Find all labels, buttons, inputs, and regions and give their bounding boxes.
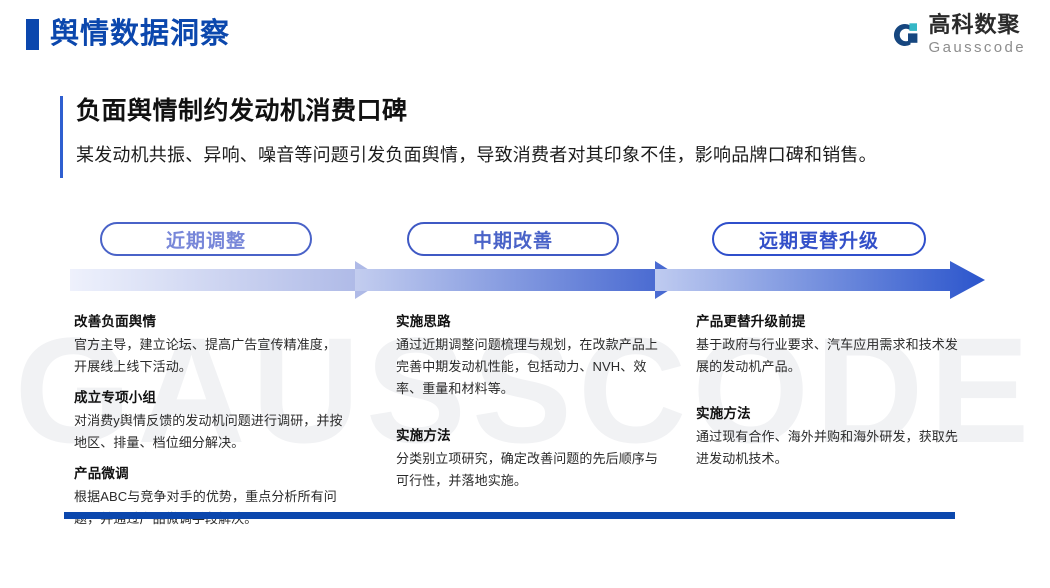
- section-body: 官方主导，建立论坛、提高广告宣传精准度，开展线上线下活动。: [74, 334, 349, 378]
- section-heading: 实施方法: [696, 404, 958, 423]
- logo-english-name: Gausscode: [929, 40, 1026, 55]
- section: 产品更替升级前提 基于政府与行业要求、汽车应用需求和技术发展的发动机产品。: [696, 312, 958, 378]
- stage-pill-mid-term[interactable]: 中期改善: [407, 222, 619, 256]
- stage-pill-row: 近期调整 中期改善 远期更替升级: [0, 222, 1050, 258]
- section: 改善负面舆情 官方主导，建立论坛、提高广告宣传精准度，开展线上线下活动。: [74, 312, 349, 378]
- timeline-arrow: [0, 260, 1050, 300]
- section-heading: 产品更替升级前提: [696, 312, 958, 331]
- section-body: 基于政府与行业要求、汽车应用需求和技术发展的发动机产品。: [696, 334, 958, 378]
- title-block: 负面舆情制约发动机消费口碑 某发动机共振、异响、噪音等问题引发负面舆情，导致消费…: [60, 94, 990, 168]
- stage-pill-near-term[interactable]: 近期调整: [100, 222, 312, 256]
- section-body: 对消费y舆情反馈的发动机问题进行调研，并按地区、排量、档位细分解决。: [74, 410, 349, 454]
- section-heading: 改善负面舆情: [74, 312, 349, 331]
- section-heading: 成立专项小组: [74, 388, 349, 407]
- section-heading: 实施方法: [396, 426, 658, 445]
- section: 成立专项小组 对消费y舆情反馈的发动机问题进行调研，并按地区、排量、档位细分解决…: [74, 388, 349, 454]
- section-heading: 产品微调: [74, 464, 349, 483]
- main-title: 负面舆情制约发动机消费口碑: [76, 94, 990, 128]
- footer-rule: [64, 512, 955, 519]
- square-bullet-icon: [26, 19, 39, 50]
- column-near-term: 改善负面舆情 官方主导，建立论坛、提高广告宣传精准度，开展线上线下活动。 成立专…: [74, 312, 349, 530]
- section: 实施方法 通过现有合作、海外并购和海外研发，获取先进发动机技术。: [696, 404, 958, 470]
- column-mid-term: 实施思路 通过近期调整问题梳理与规划，在改款产品上完善中期发动机性能，包括动力、…: [396, 312, 658, 492]
- column-long-term: 产品更替升级前提 基于政府与行业要求、汽车应用需求和技术发展的发动机产品。 实施…: [696, 312, 958, 470]
- section: 实施思路 通过近期调整问题梳理与规划，在改款产品上完善中期发动机性能，包括动力、…: [396, 312, 658, 400]
- logo-chinese-name: 高科数聚: [929, 14, 1026, 36]
- section-body: 分类别立项研究，确定改善问题的先后顺序与可行性，并落地实施。: [396, 448, 658, 492]
- section: 产品微调 根据ABC与竞争对手的优势，重点分析所有问题，并通过产品微调手段解决。: [74, 464, 349, 530]
- section-body: 通过现有合作、海外并购和海外研发，获取先进发动机技术。: [696, 426, 958, 470]
- gausscode-logo-mark-icon: [886, 18, 920, 52]
- title-accent-bar: [60, 96, 63, 178]
- section-heading: 实施思路: [396, 312, 658, 331]
- sub-title: 某发动机共振、异响、噪音等问题引发负面舆情，导致消费者对其印象不佳，影响品牌口碑…: [76, 142, 990, 168]
- page-header: 舆情数据洞察 高科数聚 Gausscode: [0, 0, 1050, 72]
- stage-pill-long-term[interactable]: 远期更替升级: [712, 222, 926, 256]
- content-columns: 改善负面舆情 官方主导，建立论坛、提高广告宣传精准度，开展线上线下活动。 成立专…: [0, 312, 1050, 502]
- section-body: 根据ABC与竞争对手的优势，重点分析所有问题，并通过产品微调手段解决。: [74, 486, 349, 530]
- page-title: 舆情数据洞察: [50, 14, 230, 54]
- section: 实施方法 分类别立项研究，确定改善问题的先后顺序与可行性，并落地实施。: [396, 426, 658, 492]
- section-body: 通过近期调整问题梳理与规划，在改款产品上完善中期发动机性能，包括动力、NVH、效…: [396, 334, 658, 400]
- brand-logo: 高科数聚 Gausscode: [886, 14, 1026, 55]
